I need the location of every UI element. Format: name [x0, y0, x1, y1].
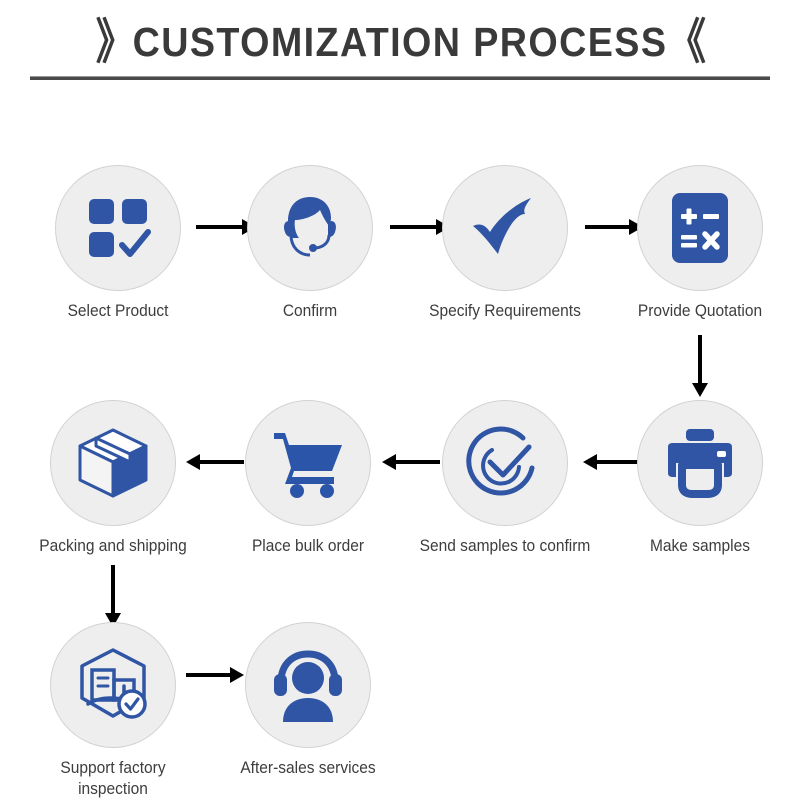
step-specify-requirements[interactable]: Specify Requirements: [435, 165, 575, 322]
step-provide-quotation[interactable]: Provide Quotation: [630, 165, 770, 322]
step-select-product[interactable]: Select Product: [48, 165, 188, 322]
checkmark-icon: [467, 190, 543, 266]
page-header: 》CUSTOMIZATION PROCESS《: [0, 0, 800, 90]
headset-person-icon: [269, 648, 347, 722]
step-icon-circle: [50, 400, 176, 526]
step-label: Place bulk order: [209, 536, 406, 557]
step-icon-circle: [442, 400, 568, 526]
step-label: Send samples to confirm: [406, 536, 603, 557]
step-label: Provide Quotation: [601, 301, 798, 322]
calculator-icon: [669, 190, 731, 266]
step-label: Specify Requirements: [406, 301, 603, 322]
step-icon-circle: [245, 400, 371, 526]
step-label: Support factory inspection: [14, 758, 211, 800]
step-label: Select Product: [39, 301, 197, 322]
step-label: Make samples: [601, 536, 798, 557]
arrow-down-left: [104, 565, 122, 627]
page-title-text: CUSTOMIZATION PROCESS: [133, 19, 668, 65]
page-title: 》CUSTOMIZATION PROCESS《: [32, 8, 768, 69]
step-icon-circle: [247, 165, 373, 291]
printer-icon: [662, 427, 738, 499]
arrow-right-4: [186, 666, 244, 684]
step-support-factory-inspection[interactable]: Support factory inspection: [43, 622, 183, 800]
step-place-bulk-order[interactable]: Place bulk order: [238, 400, 378, 557]
step-icon-circle: [637, 400, 763, 526]
step-after-sales-services[interactable]: After-sales services: [238, 622, 378, 779]
grid-check-icon: [84, 194, 152, 262]
step-icon-circle: [50, 622, 176, 748]
title-divider: [30, 76, 770, 80]
arrow-left-1: [186, 453, 244, 471]
step-make-samples[interactable]: Make samples: [630, 400, 770, 557]
shopping-cart-icon: [270, 427, 346, 499]
factory-inspection-icon: [74, 646, 152, 724]
step-label: Packing and shipping: [14, 536, 211, 557]
arrow-down-right: [691, 335, 709, 397]
step-confirm[interactable]: Confirm: [240, 165, 380, 322]
chevron-left-decoration: 》: [96, 3, 133, 73]
chevron-right-decoration: 《: [667, 3, 704, 73]
step-icon-circle: [442, 165, 568, 291]
box-icon: [74, 424, 152, 502]
step-packing-and-shipping[interactable]: Packing and shipping: [43, 400, 183, 557]
step-send-samples-to-confirm[interactable]: Send samples to confirm: [435, 400, 575, 557]
step-icon-circle: [245, 622, 371, 748]
arrow-left-2: [382, 453, 440, 471]
circle-check-icon: [466, 424, 544, 502]
step-icon-circle: [637, 165, 763, 291]
headset-agent-icon: [273, 191, 347, 265]
step-icon-circle: [55, 165, 181, 291]
step-label: After-sales services: [209, 758, 406, 779]
step-label: Confirm: [231, 301, 389, 322]
